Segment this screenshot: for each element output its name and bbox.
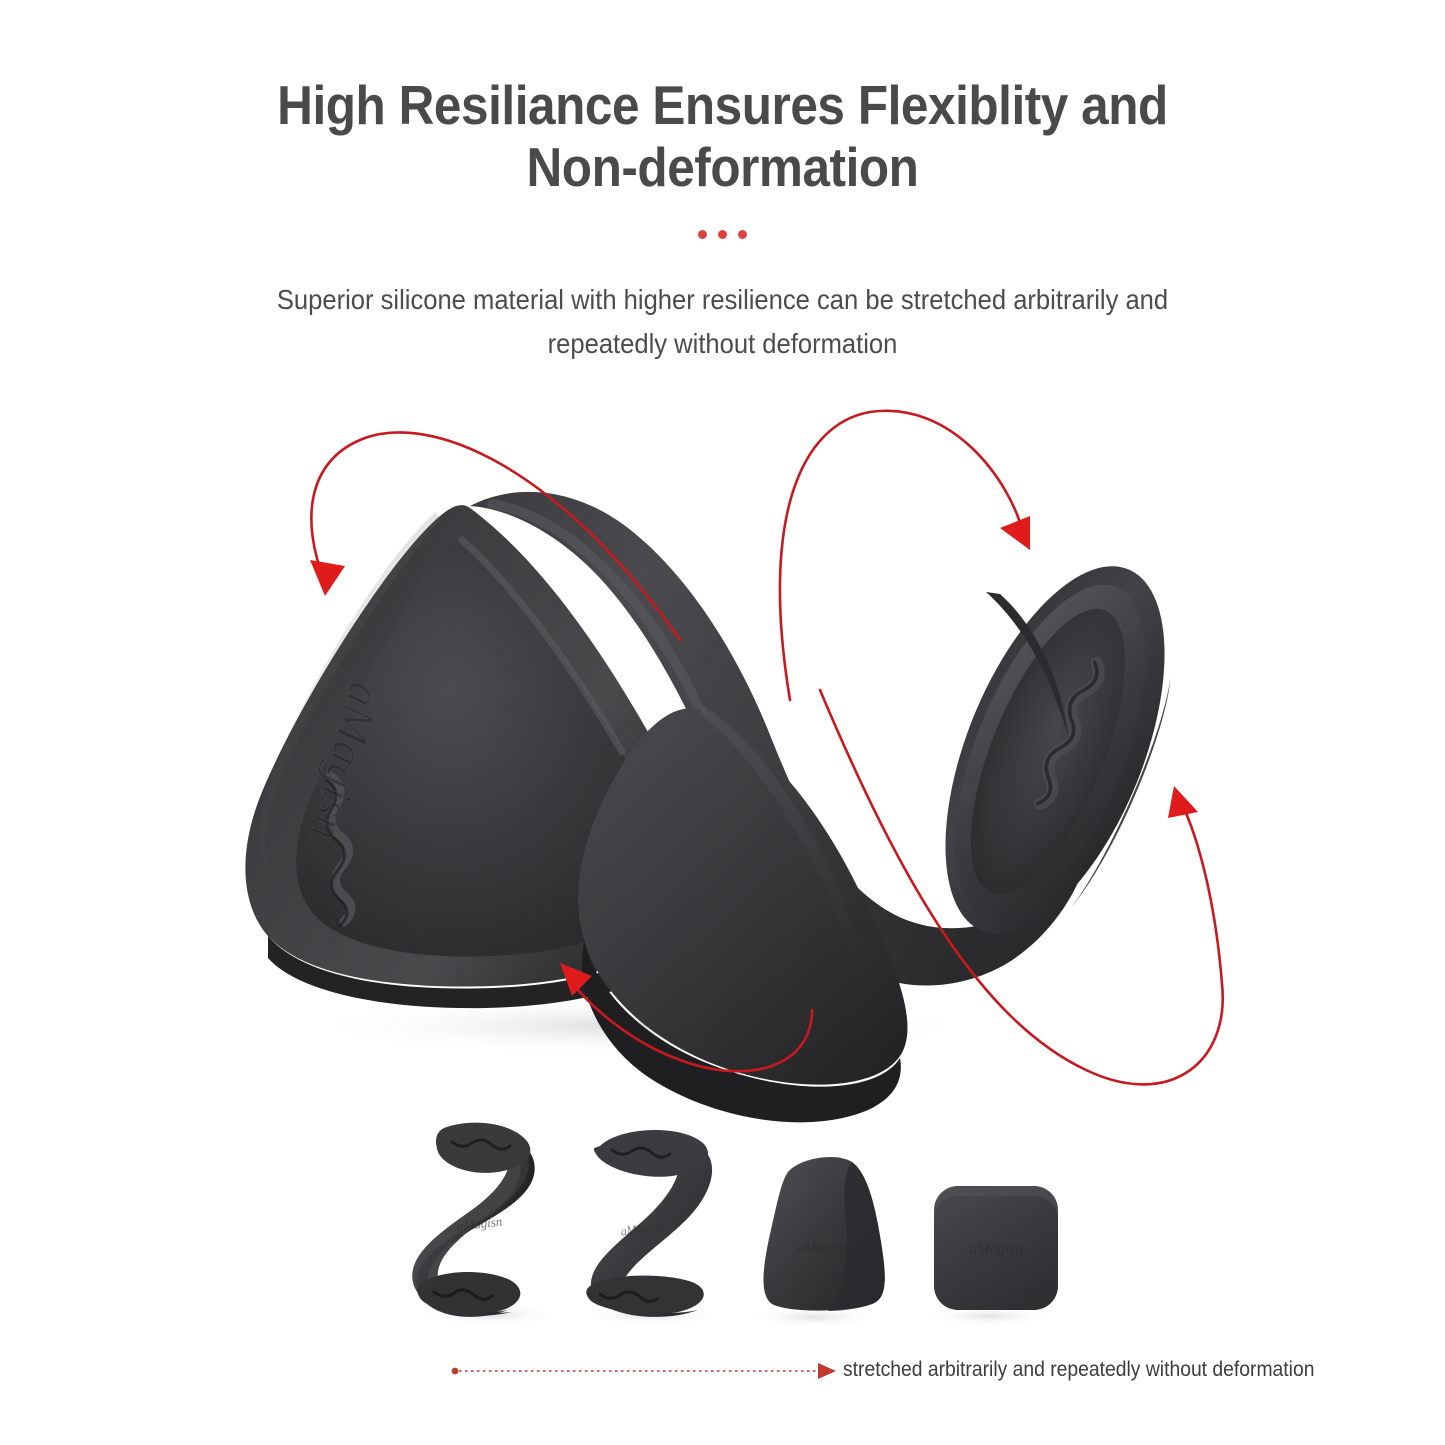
deformation-state-row: aMagisn aMagisn aMagisn	[0, 1110, 1445, 1340]
infographic-page: High Resiliance Ensures Flexiblity and N…	[0, 0, 1445, 1445]
state-half-twisted: aMagisn	[586, 1130, 712, 1317]
emboss-3: aMagisn	[798, 1241, 847, 1256]
divider-dot-2	[718, 230, 727, 239]
caption-arrow-start-dot	[452, 1368, 459, 1375]
hero-right-lobe	[900, 536, 1212, 965]
divider-dot-1	[698, 230, 707, 239]
state-partially-untwisted: aMagisn	[764, 1157, 885, 1311]
hero-product-illustration: aMagisn	[0, 380, 1445, 1140]
divider-dot-3	[738, 230, 747, 239]
dot-divider	[0, 230, 1445, 239]
caption-label: stretched arbitrarily and repeatedly wit…	[843, 1355, 1314, 1385]
page-subtitle: Superior silicone material with higher r…	[218, 278, 1227, 366]
emboss-4: aMagisn	[970, 1242, 1023, 1258]
page-title: High Resiliance Ensures Flexiblity and N…	[207, 74, 1238, 198]
caption-arrow-head	[818, 1363, 836, 1379]
state-flat: aMagisn	[934, 1186, 1058, 1310]
state-fully-twisted: aMagisn	[412, 1123, 534, 1317]
